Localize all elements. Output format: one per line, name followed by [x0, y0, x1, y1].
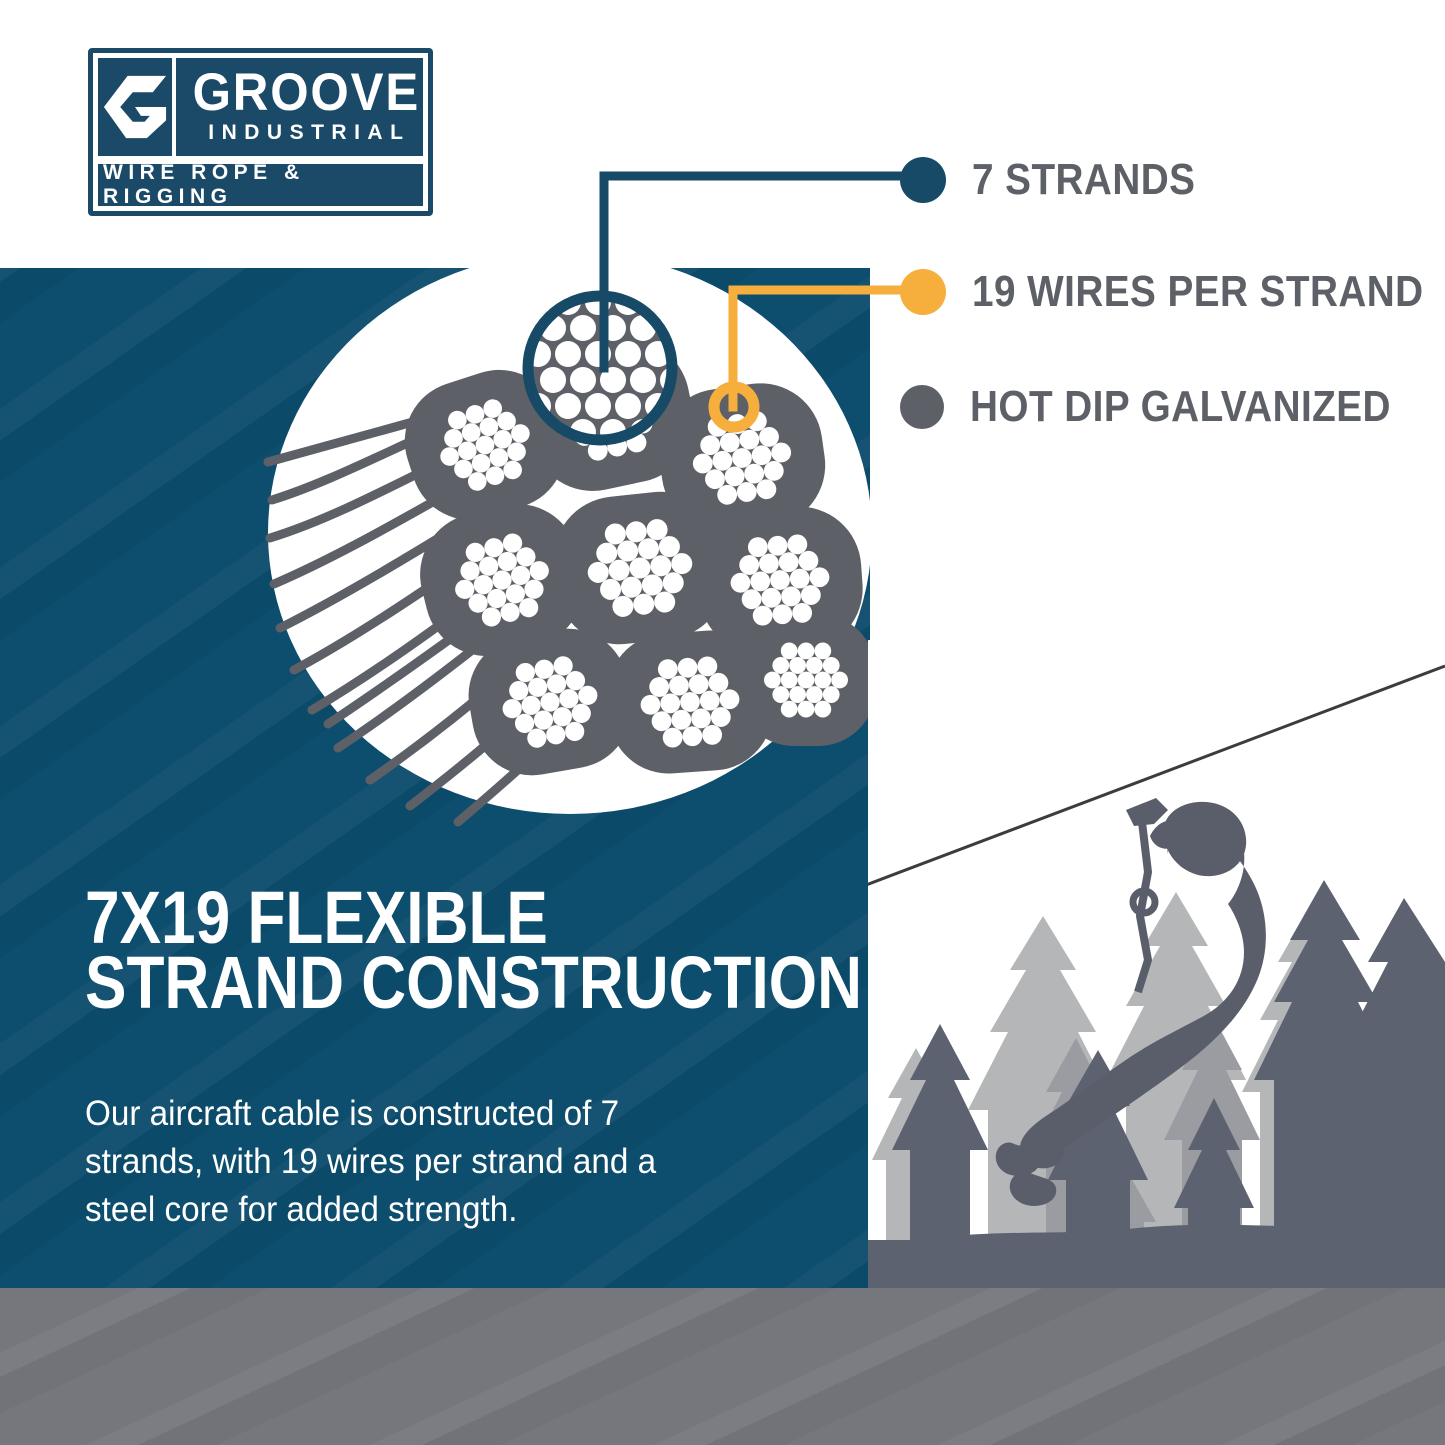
logo-wordmark: GROOVE INDUSTRIAL — [176, 58, 429, 156]
bottom-bar-texture — [0, 1288, 1445, 1445]
logo-brand-sub: INDUSTRIAL — [202, 121, 410, 145]
wire-rope-illustration — [250, 250, 890, 830]
callout-label: 7 STRANDS — [972, 155, 1195, 205]
body-copy: Our aircraft cable is constructed of 7 s… — [85, 1090, 731, 1234]
zipline-photo — [868, 640, 1445, 1292]
callout-strands[interactable]: 7 STRANDS — [900, 155, 1226, 205]
groove-g-icon — [98, 58, 176, 156]
callout-wires-per-strand[interactable]: 19 WIRES PER STRAND — [900, 267, 1445, 317]
logo-tagline: WIRE ROPE & RIGGING — [98, 161, 423, 209]
headline-line-2: STRAND CONSTRUCTION — [85, 950, 723, 1015]
bottom-gray-bar — [0, 1288, 1445, 1445]
callout-dot-icon — [900, 269, 946, 315]
logo-top-row: GROOVE INDUSTRIAL — [98, 58, 423, 156]
brand-logo: GROOVE INDUSTRIAL WIRE ROPE & RIGGING — [88, 48, 433, 216]
infographic-canvas: GROOVE INDUSTRIAL WIRE ROPE & RIGGING — [0, 0, 1445, 1445]
callout-dot-icon — [900, 157, 946, 203]
callout-hot-dip-galvanized[interactable]: HOT DIP GALVANIZED — [900, 382, 1445, 432]
logo-brand-name: GROOVE — [193, 69, 421, 118]
headline-block: 7X19 FLEXIBLE STRAND CONSTRUCTION — [85, 885, 845, 1015]
callout-dot-icon — [900, 385, 944, 429]
logo-tagline-row: WIRE ROPE & RIGGING — [98, 164, 423, 206]
callout-label: 19 WIRES PER STRAND — [972, 267, 1424, 317]
callout-label: HOT DIP GALVANIZED — [970, 382, 1391, 432]
